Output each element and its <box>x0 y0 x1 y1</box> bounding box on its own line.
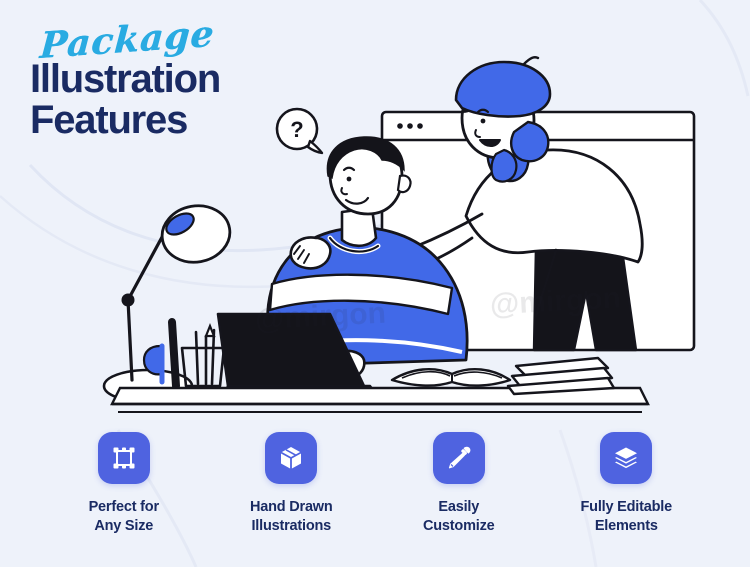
feature-label-1-line1: Perfect for <box>89 498 159 517</box>
feature-tile-4[interactable] <box>600 432 652 484</box>
feature-label-3-line2: Customize <box>423 517 495 536</box>
feature-item-easily-customize[interactable]: Easily Customize <box>384 432 534 536</box>
hero-illustration <box>0 0 750 430</box>
feature-item-hand-drawn-illustrations[interactable]: Hand Drawn Illustrations <box>216 432 366 536</box>
feature-tile-3[interactable] <box>433 432 485 484</box>
feature-label-4-line2: Elements <box>581 517 672 536</box>
feature-label-1-line2: Any Size <box>89 517 159 536</box>
browser-dots <box>397 123 423 129</box>
feature-row: Perfect for Any Size Hand Drawn Illustra… <box>0 432 750 536</box>
feature-tile-2[interactable] <box>265 432 317 484</box>
feature-label-1: Perfect for Any Size <box>89 498 159 536</box>
feature-label-2: Hand Drawn Illustrations <box>250 498 333 536</box>
poster-canvas: Package Illustration Features ? <box>0 0 750 567</box>
open-book <box>392 369 510 385</box>
transform-box-icon <box>111 445 137 471</box>
feature-item-fully-editable-elements[interactable]: Fully Editable Elements <box>551 432 701 536</box>
desk-lamp <box>104 201 234 402</box>
layers-icon <box>613 445 639 471</box>
feature-item-perfect-for-any-size[interactable]: Perfect for Any Size <box>49 432 199 536</box>
feature-tile-1[interactable] <box>98 432 150 484</box>
stacked-books <box>508 358 614 394</box>
feature-label-4-line1: Fully Editable <box>581 498 672 517</box>
package-box-icon <box>278 445 304 471</box>
feature-label-2-line2: Illustrations <box>250 517 333 536</box>
feature-label-3-line1: Easily <box>423 498 495 517</box>
feature-label-3: Easily Customize <box>423 498 495 536</box>
eyedropper-icon <box>446 445 472 471</box>
feature-label-2-line1: Hand Drawn <box>250 498 333 517</box>
feature-label-4: Fully Editable Elements <box>581 498 672 536</box>
